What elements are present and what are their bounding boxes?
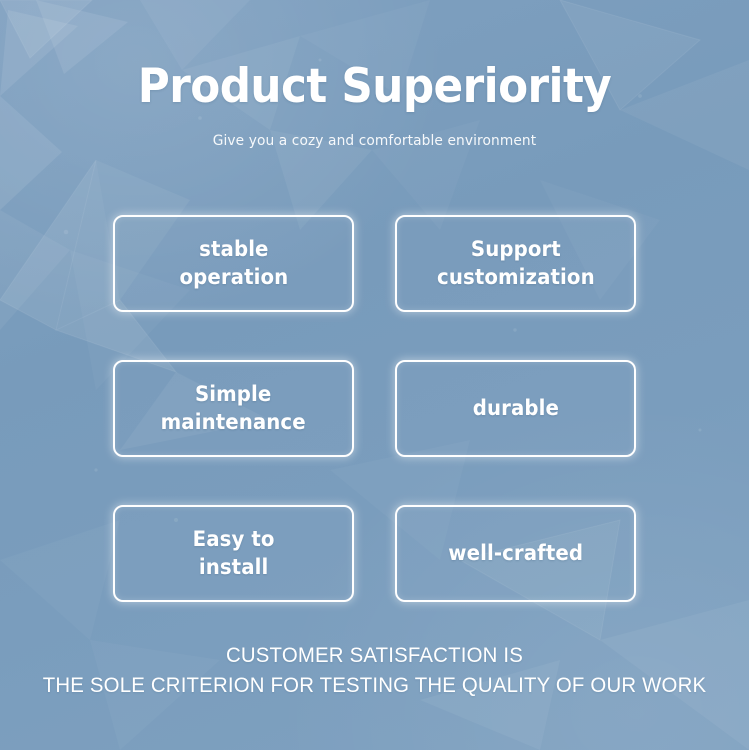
feature-label: Support customization [437,236,595,291]
feature-label: well-crafted [448,540,583,568]
feature-card-support-customization[interactable]: Support customization [395,215,636,312]
feature-label: Simple maintenance [161,381,306,436]
feature-card-easy-to-install[interactable]: Easy to install [113,505,354,602]
feature-label: stable operation [179,236,288,291]
feature-card-durable[interactable]: durable [395,360,636,457]
page-subtitle: Give you a cozy and comfortable environm… [19,133,731,149]
feature-label: Easy to install [193,526,275,581]
feature-grid: stable operation Support customization S… [113,215,636,602]
poster-footer: CUSTOMER SATISFACTION IS THE SOLE CRITER… [0,641,749,701]
footer-line-1: CUSTOMER SATISFACTION IS [11,641,738,671]
footer-line-2: THE SOLE CRITERION FOR TESTING THE QUALI… [11,671,738,701]
feature-card-well-crafted[interactable]: well-crafted [395,505,636,602]
feature-label: durable [472,395,558,423]
feature-card-stable-operation[interactable]: stable operation [113,215,354,312]
feature-card-simple-maintenance[interactable]: Simple maintenance [113,360,354,457]
page-title: Product Superiority [26,62,723,113]
product-superiority-poster: Product Superiority Give you a cozy and … [0,0,749,750]
poster-header: Product Superiority Give you a cozy and … [0,62,749,149]
